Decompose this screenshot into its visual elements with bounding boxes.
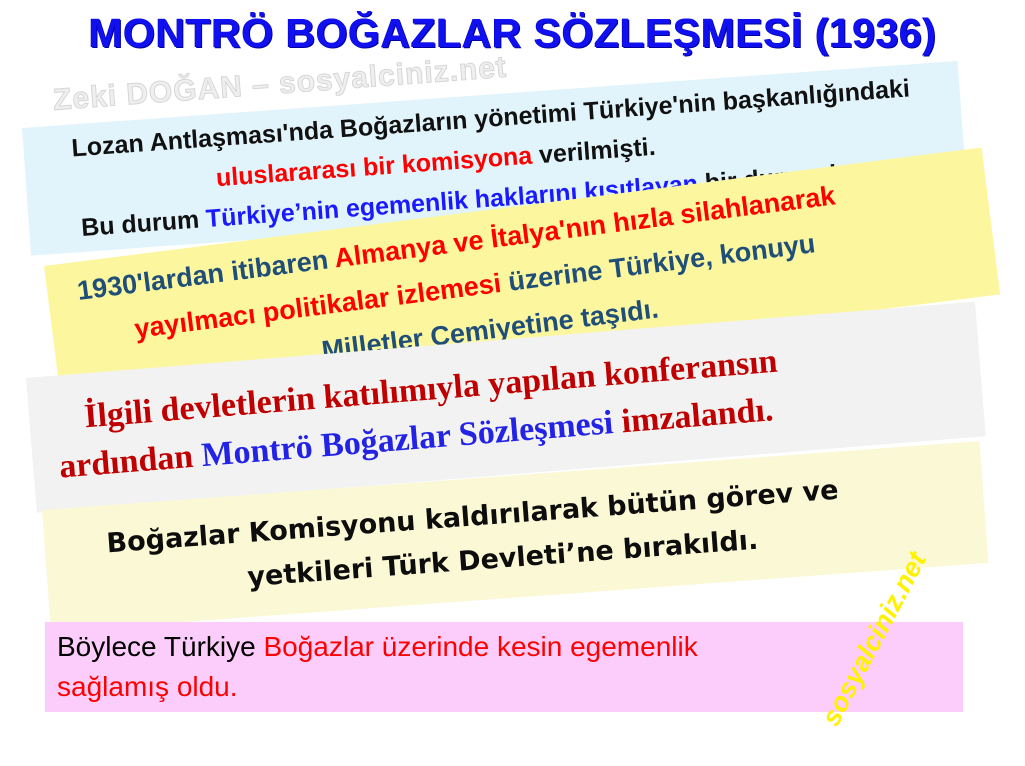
band5-line-1-segment-1: Böylece Türkiye bbox=[57, 631, 263, 662]
page-title: MONTRÖ BOĞAZLAR SÖZLEŞMESİ (1936) bbox=[0, 10, 1025, 57]
band5-line-1: Böylece Türkiye Boğazlar üzerinde kesin … bbox=[57, 627, 963, 667]
band1-line-2-segment-2: verilmişti. bbox=[538, 133, 656, 169]
content-band-5: Böylece Türkiye Boğazlar üzerinde kesin … bbox=[45, 622, 963, 712]
band3-line-2-segment-1: ardından bbox=[58, 437, 203, 485]
band3-line-2-segment-3: imzalandı. bbox=[620, 391, 775, 440]
band5-line-1-segment-2: Boğazlar üzerinde kesin egemenlik bbox=[263, 631, 697, 662]
slide-canvas: MONTRÖ BOĞAZLAR SÖZLEŞMESİ (1936) Zeki D… bbox=[0, 0, 1025, 766]
band5-line-2: sağlamış oldu. bbox=[57, 667, 963, 707]
band5-line-2-segment-1: sağlamış oldu. bbox=[57, 671, 238, 702]
band1-line-3-segment-1: Bu durum bbox=[80, 205, 207, 242]
